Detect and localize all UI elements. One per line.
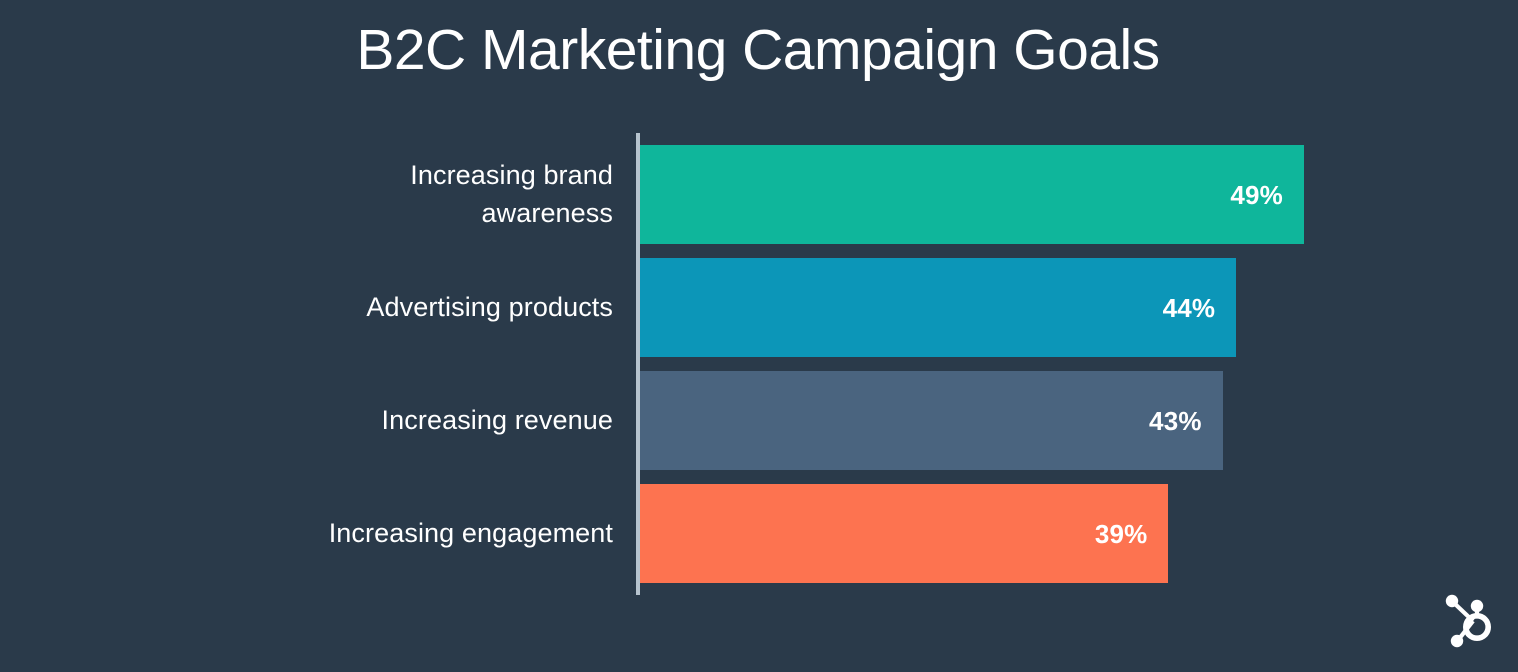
bar-advertising-products[interactable]: 44% — [640, 258, 1236, 357]
bar-value-label: 39% — [1095, 521, 1148, 547]
category-label-increasing-revenue: Increasing revenue — [0, 371, 613, 470]
plot-area: Increasing brand awareness Advertising p… — [0, 0, 1518, 672]
category-label-increasing-engagement: Increasing engagement — [0, 484, 613, 583]
bar-increasing-brand-awareness[interactable]: 49% — [640, 145, 1304, 244]
bar-value-label: 43% — [1149, 408, 1202, 434]
category-label-text: Increasing brand awareness — [410, 157, 613, 232]
bar-increasing-revenue[interactable]: 43% — [640, 371, 1223, 470]
category-label-increasing-brand-awareness: Increasing brand awareness — [0, 145, 613, 244]
category-label-text: Increasing engagement — [329, 515, 613, 552]
bar-value-label: 49% — [1230, 182, 1283, 208]
category-axis-labels: Increasing brand awareness Advertising p… — [0, 145, 613, 595]
chart-container: B2C Marketing Campaign Goals Increasing … — [0, 0, 1518, 672]
bar-increasing-engagement[interactable]: 39% — [640, 484, 1168, 583]
hubspot-sprocket-logo — [1443, 592, 1495, 650]
bar-value-label: 44% — [1163, 295, 1216, 321]
bars-layer: 49% 44% 43% 39% — [640, 145, 1500, 595]
category-label-text: Increasing revenue — [382, 402, 613, 439]
category-label-advertising-products: Advertising products — [0, 258, 613, 357]
category-label-text: Advertising products — [366, 289, 613, 326]
